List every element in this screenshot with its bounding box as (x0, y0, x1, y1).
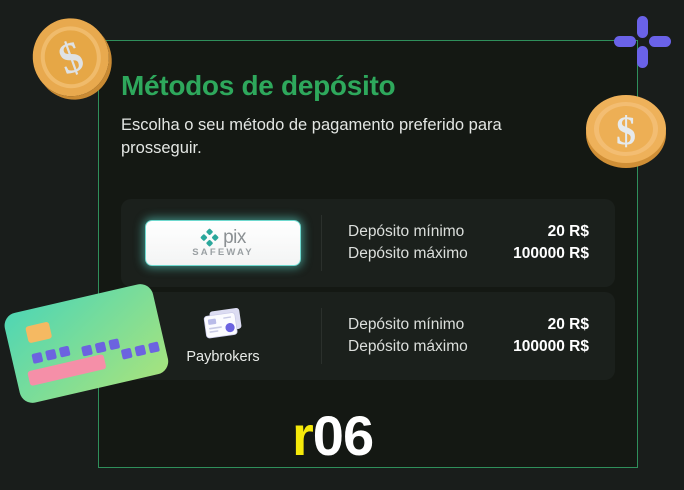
max-deposit-line: Depósito máximo 100000 R$ (348, 245, 589, 263)
pix-safeway-logo-tile[interactable]: pix SAFEWAY (145, 220, 301, 266)
max-deposit-line: Depósito máximo 100000 R$ (348, 338, 589, 356)
max-deposit-label: Depósito máximo (348, 338, 468, 356)
pix-logo-row: pix (200, 228, 246, 247)
pix-logo-cell[interactable]: pix SAFEWAY (125, 220, 321, 266)
pix-mark-icon (200, 228, 219, 247)
credit-card-icon (200, 306, 246, 342)
watermark-number: 06 (313, 404, 373, 467)
max-deposit-value: 100000 R$ (513, 338, 589, 356)
min-deposit-label: Depósito mínimo (348, 223, 464, 241)
page-subtitle: Escolha o seu método de pagamento prefer… (121, 114, 573, 161)
safeway-wordmark: SAFEWAY (192, 248, 254, 258)
payment-method-pix-safeway[interactable]: pix SAFEWAY Depósito mínimo 20 R$ Depósi… (121, 199, 615, 287)
min-deposit-line: Depósito mínimo 20 R$ (348, 223, 589, 241)
page-title: Métodos de depósito (121, 71, 615, 102)
pix-wordmark: pix (223, 228, 246, 247)
max-deposit-value: 100000 R$ (513, 245, 589, 263)
watermark: r06 (292, 408, 373, 464)
min-deposit-value: 20 R$ (548, 223, 589, 241)
min-deposit-label: Depósito mínimo (348, 316, 464, 334)
max-deposit-label: Depósito máximo (348, 245, 468, 263)
min-deposit-line: Depósito mínimo 20 R$ (348, 316, 589, 334)
payment-methods-list: pix SAFEWAY Depósito mínimo 20 R$ Depósi… (121, 199, 615, 380)
payment-method-paybrokers[interactable]: Paybrokers Depósito mínimo 20 R$ Depósit… (121, 292, 615, 380)
paybrokers-logo-cell[interactable]: Paybrokers (125, 306, 321, 365)
watermark-prefix: r (292, 404, 313, 467)
min-deposit-value: 20 R$ (548, 316, 589, 334)
modal-content: Métodos de depósito Escolha o seu método… (99, 41, 637, 380)
pix-limits: Depósito mínimo 20 R$ Depósito máximo 10… (322, 223, 611, 263)
svg-text:$: $ (52, 31, 89, 85)
paybrokers-limits: Depósito mínimo 20 R$ Depósito máximo 10… (322, 316, 611, 356)
paybrokers-label: Paybrokers (186, 349, 259, 365)
